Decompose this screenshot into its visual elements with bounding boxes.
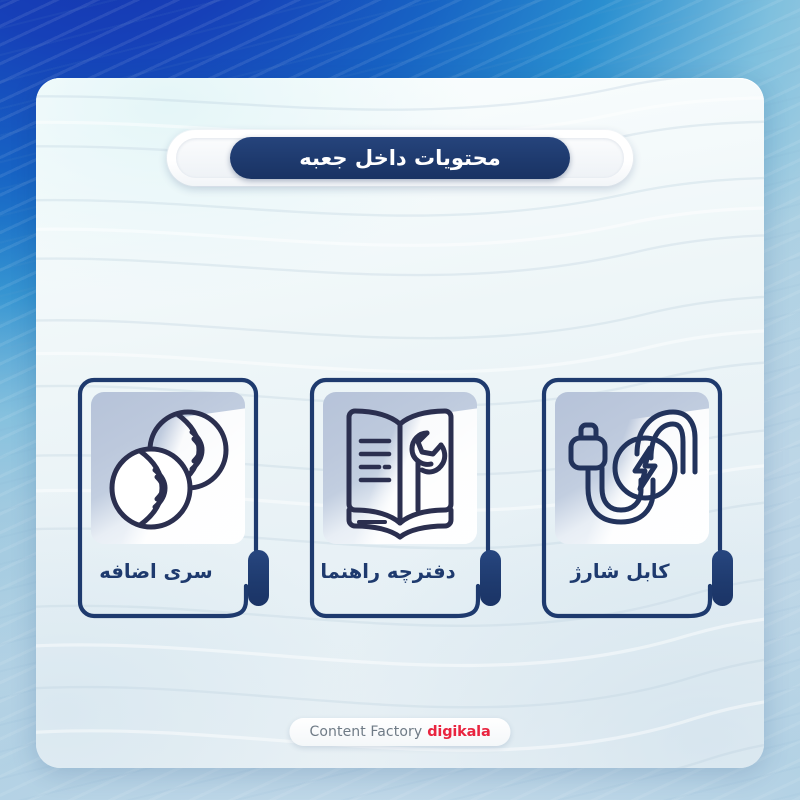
footer-label: Content Factory — [309, 724, 422, 740]
contents-card-row: کابل شارژ — [70, 374, 730, 624]
footer-badge: digikala Content Factory — [289, 718, 510, 746]
card-tab-handle — [480, 550, 501, 606]
manual-book-wrench-icon — [323, 392, 477, 544]
main-panel: محتویات داخل جعبه — [36, 78, 764, 768]
card-tab-handle — [248, 550, 269, 606]
card-label: سری اضافه — [76, 556, 236, 586]
title-pill: محتویات داخل جعبه — [230, 137, 570, 179]
card-label: دفترچه راهنما — [308, 556, 468, 586]
content-card-extra-ear-tips[interactable]: سری اضافه — [70, 374, 266, 622]
infographic-canvas: محتویات داخل جعبه — [0, 0, 800, 800]
content-card-user-manual[interactable]: دفترچه راهنما — [302, 374, 498, 622]
card-icon-panel — [555, 392, 709, 544]
card-icon-panel — [323, 392, 477, 544]
digikala-logo-text: digikala — [427, 724, 490, 740]
content-card-charging-cable[interactable]: کابل شارژ — [534, 374, 730, 622]
page-title: محتویات داخل جعبه — [299, 148, 501, 169]
card-icon-panel — [91, 392, 245, 544]
card-tab-handle — [712, 550, 733, 606]
card-label: کابل شارژ — [540, 556, 700, 586]
title-badge: محتویات داخل جعبه — [167, 130, 633, 186]
ear-tips-icon — [91, 392, 245, 544]
charging-cable-icon — [555, 392, 709, 544]
